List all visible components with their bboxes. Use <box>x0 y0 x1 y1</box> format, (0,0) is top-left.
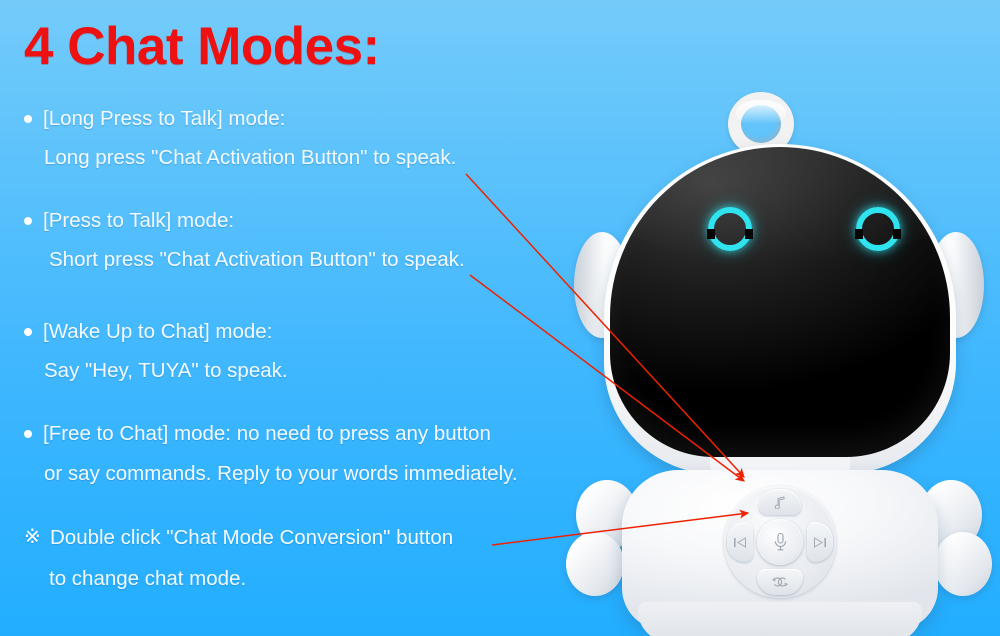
arrow-double-click-to-mode-conversion <box>492 513 748 545</box>
promo-banner: 4 Chat Modes: [Long Press to Talk] mode:… <box>0 0 1000 636</box>
arrow-short-press-to-chat-activation <box>470 275 744 481</box>
annotation-arrows <box>0 0 1000 636</box>
arrow-long-press-to-chat-activation <box>466 174 744 477</box>
